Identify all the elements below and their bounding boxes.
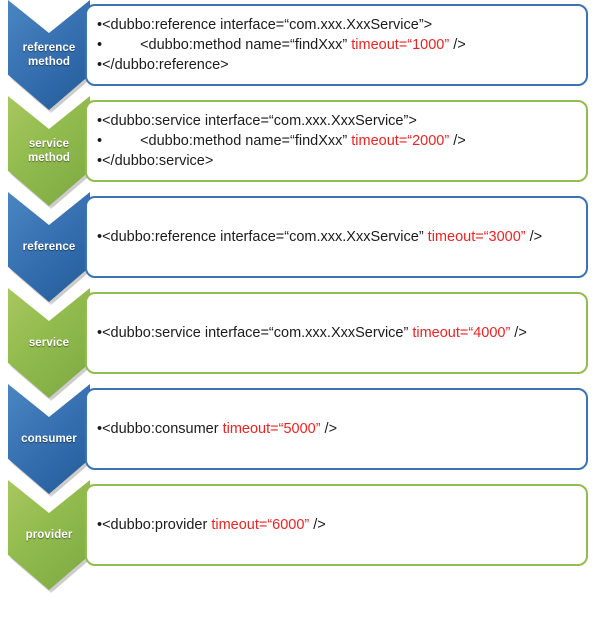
config-row: servicemethod•<dubbo:service interface=“… [0, 96, 600, 192]
chevron-label: servicemethod [8, 96, 90, 192]
code-line: •</dubbo:reference> [97, 55, 576, 75]
code-line: •<dubbo:method name=“findXxx” timeout=“1… [97, 35, 576, 55]
chevron-label: provider [8, 480, 90, 576]
chevron-label: referencemethod [8, 0, 90, 96]
chevron-label-line1: provider [26, 528, 73, 542]
chevron-label-line2: method [28, 151, 70, 165]
code-line: •<dubbo:reference interface=“com.xxx.Xxx… [97, 15, 576, 35]
xml-snippet-box: •<dubbo:reference interface=“com.xxx.Xxx… [85, 196, 588, 278]
code-line: •<dubbo:service interface=“com.xxx.XxxSe… [97, 111, 576, 131]
timeout-attribute-text: timeout=“6000” [211, 517, 309, 533]
xml-tag-close-text: /> [449, 133, 466, 149]
xml-tag-close-text: /> [321, 421, 338, 437]
xml-tag-text: <dubbo:consumer [102, 421, 223, 437]
code-line: •<dubbo:consumer timeout=“5000” /> [97, 419, 576, 439]
config-row: referencemethod•<dubbo:reference interfa… [0, 0, 600, 96]
timeout-attribute-text: timeout=“4000” [412, 325, 510, 341]
xml-tag-close-text: /> [449, 37, 466, 53]
config-row: provider•<dubbo:provider timeout=“6000” … [0, 480, 600, 576]
xml-tag-text: <dubbo:reference interface=“com.xxx.XxxS… [102, 17, 432, 33]
chevron-badge-provider[interactable]: provider [8, 480, 90, 590]
xml-tag-text: </dubbo:reference> [102, 57, 229, 73]
bullet-icon: • [97, 37, 102, 53]
chevron-badge-service-method[interactable]: servicemethod [8, 96, 90, 206]
chevron-badge-consumer[interactable]: consumer [8, 384, 90, 494]
config-row: service•<dubbo:service interface=“com.xx… [0, 288, 600, 384]
chevron-label-line1: service [29, 137, 69, 151]
xml-tag-text: <dubbo:provider [102, 517, 211, 533]
xml-tag-text: <dubbo:method name=“findXxx” [140, 133, 351, 149]
xml-tag-text: </dubbo:service> [102, 153, 213, 169]
code-line: •</dubbo:service> [97, 151, 576, 171]
xml-tag-close-text: /> [309, 517, 326, 533]
bullet-icon: • [97, 133, 102, 149]
timeout-attribute-text: timeout=“1000” [351, 37, 449, 53]
config-row: consumer•<dubbo:consumer timeout=“5000” … [0, 384, 600, 480]
chevron-label: consumer [8, 384, 90, 480]
xml-tag-close-text: /> [510, 325, 527, 341]
chevron-label-line1: service [29, 336, 69, 350]
chevron-label-line1: reference [23, 41, 76, 55]
code-line: •<dubbo:reference interface=“com.xxx.Xxx… [97, 227, 576, 247]
code-line: •<dubbo:service interface=“com.xxx.XxxSe… [97, 323, 576, 343]
xml-tag-text: <dubbo:service interface=“com.xxx.XxxSer… [102, 113, 417, 129]
code-line: •<dubbo:provider timeout=“6000” /> [97, 515, 576, 535]
code-line: •<dubbo:method name=“findXxx” timeout=“2… [97, 131, 576, 151]
xml-snippet-box: •<dubbo:service interface=“com.xxx.XxxSe… [85, 292, 588, 374]
chevron-badge-reference[interactable]: reference [8, 192, 90, 302]
chevron-label: reference [8, 192, 90, 288]
timeout-attribute-text: timeout=“2000” [351, 133, 449, 149]
chevron-label-line2: method [28, 55, 70, 69]
chevron-label-line1: consumer [21, 432, 77, 446]
xml-snippet-box: •<dubbo:provider timeout=“6000” /> [85, 484, 588, 566]
chevron-badge-reference-method[interactable]: referencemethod [8, 0, 90, 110]
config-row: reference•<dubbo:reference interface=“co… [0, 192, 600, 288]
chevron-badge-service[interactable]: service [8, 288, 90, 398]
xml-snippet-box: •<dubbo:service interface=“com.xxx.XxxSe… [85, 100, 588, 182]
xml-tag-close-text: /> [526, 229, 543, 245]
timeout-attribute-text: timeout=“3000” [428, 229, 526, 245]
xml-snippet-box: •<dubbo:reference interface=“com.xxx.Xxx… [85, 4, 588, 86]
chevron-label-line1: reference [23, 240, 76, 254]
dubbo-timeout-precedence-diagram: referencemethod•<dubbo:reference interfa… [0, 0, 600, 620]
xml-tag-text: <dubbo:service interface=“com.xxx.XxxSer… [102, 325, 412, 341]
xml-snippet-box: •<dubbo:consumer timeout=“5000” /> [85, 388, 588, 470]
timeout-attribute-text: timeout=“5000” [223, 421, 321, 437]
xml-tag-text: <dubbo:reference interface=“com.xxx.XxxS… [102, 229, 428, 245]
xml-tag-text: <dubbo:method name=“findXxx” [140, 37, 351, 53]
chevron-label: service [8, 288, 90, 384]
